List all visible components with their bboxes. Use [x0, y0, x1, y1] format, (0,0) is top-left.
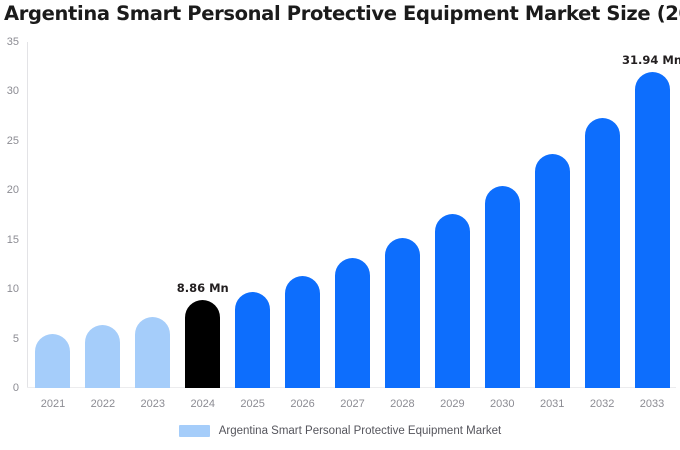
x-axis-tick-label: 2032 — [590, 398, 614, 410]
x-axis-tick-label: 2025 — [240, 398, 264, 410]
y-axis: 05101520253035 — [0, 42, 27, 388]
y-axis-tick-label: 5 — [13, 333, 19, 345]
y-axis-tick-label: 30 — [7, 85, 19, 97]
plot-area: 8.86 Mn31.94 Mn — [27, 42, 676, 388]
bar-2026[interactable] — [285, 276, 320, 388]
y-axis-tick-label: 25 — [7, 135, 19, 147]
x-axis-tick-label: 2021 — [41, 398, 65, 410]
legend-swatch-icon — [179, 425, 210, 437]
bar-2030[interactable] — [485, 186, 520, 388]
bar-2024[interactable] — [185, 300, 220, 388]
chart-legend: Argentina Smart Personal Protective Equi… — [0, 425, 680, 437]
x-axis-tick-label: 2026 — [290, 398, 314, 410]
bar-2031[interactable] — [535, 154, 570, 388]
chart-title: Argentina Smart Personal Protective Equi… — [4, 2, 680, 25]
bar-2029[interactable] — [435, 214, 470, 388]
bar-2032[interactable] — [585, 118, 620, 388]
bar-2028[interactable] — [385, 238, 420, 388]
legend-label[interactable]: Argentina Smart Personal Protective Equi… — [219, 425, 502, 437]
x-axis-tick-label: 2027 — [340, 398, 364, 410]
y-axis-tick-label: 10 — [7, 283, 19, 295]
y-axis-tick-label: 35 — [7, 36, 19, 48]
x-axis-tick-label: 2031 — [540, 398, 564, 410]
x-axis-tick-label: 2028 — [390, 398, 414, 410]
x-axis: 2021202220232024202520262027202820292030… — [27, 398, 676, 416]
y-axis-tick-label: 0 — [13, 382, 19, 394]
bar-2023[interactable] — [135, 317, 170, 388]
x-axis-tick-label: 2023 — [141, 398, 165, 410]
y-axis-tick-label: 15 — [7, 234, 19, 246]
x-axis-tick-label: 2030 — [490, 398, 514, 410]
y-axis-tick-label: 20 — [7, 184, 19, 196]
chart-container: Argentina Smart Personal Protective Equi… — [0, 0, 680, 450]
bar-value-label-2024: 8.86 Mn — [177, 281, 229, 295]
bar-series — [27, 42, 676, 388]
x-axis-tick-label: 2022 — [91, 398, 115, 410]
bar-value-label-2033: 31.94 Mn — [622, 53, 680, 67]
x-axis-tick-label: 2029 — [440, 398, 464, 410]
bar-2033[interactable] — [635, 72, 670, 388]
x-axis-tick-label: 2024 — [190, 398, 214, 410]
bar-2025[interactable] — [235, 292, 270, 388]
bar-2022[interactable] — [85, 325, 120, 388]
bar-2027[interactable] — [335, 258, 370, 388]
x-axis-tick-label: 2033 — [640, 398, 664, 410]
bar-2021[interactable] — [35, 334, 70, 388]
